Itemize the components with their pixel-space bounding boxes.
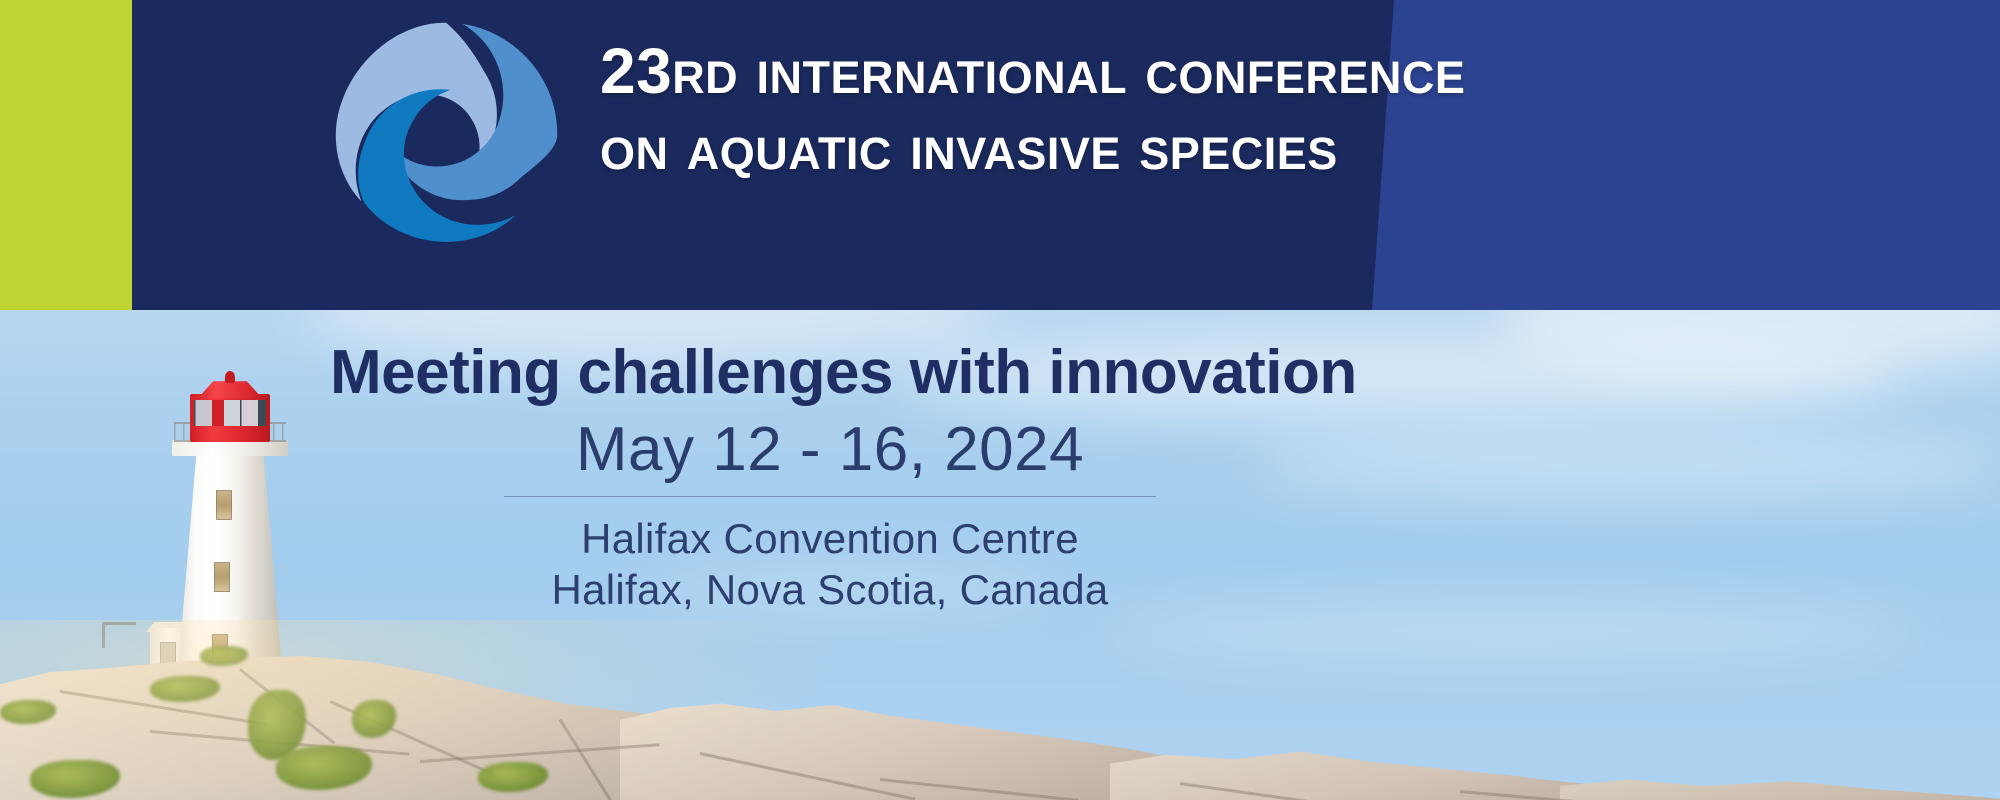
sunlight-glow: [0, 620, 840, 800]
venue-name: Halifax Convention Centre: [330, 513, 1330, 564]
event-tagline: Meeting challenges with innovation: [330, 340, 1330, 405]
conference-title-line-2: on Aquatic Invasive Species: [600, 110, 1960, 186]
header-band: 23rd International Conference on Aquatic…: [0, 0, 2000, 310]
details-divider: [504, 496, 1156, 497]
rock-outcrop-far: [1560, 762, 2000, 800]
conference-banner: 23rd International Conference on Aquatic…: [0, 0, 2000, 800]
conference-title-line-1: 23rd International Conference: [600, 34, 1960, 110]
event-details-block: Meeting challenges with innovation May 1…: [330, 340, 1330, 616]
venue-location: Halifax, Nova Scotia, Canada: [330, 564, 1330, 615]
header-green-accent: [0, 0, 132, 310]
aquatic-invasive-species-swirl-logo[interactable]: [330, 18, 562, 250]
event-dates: May 12 - 16, 2024: [330, 417, 1330, 482]
conference-title: 23rd International Conference on Aquatic…: [600, 34, 1960, 185]
